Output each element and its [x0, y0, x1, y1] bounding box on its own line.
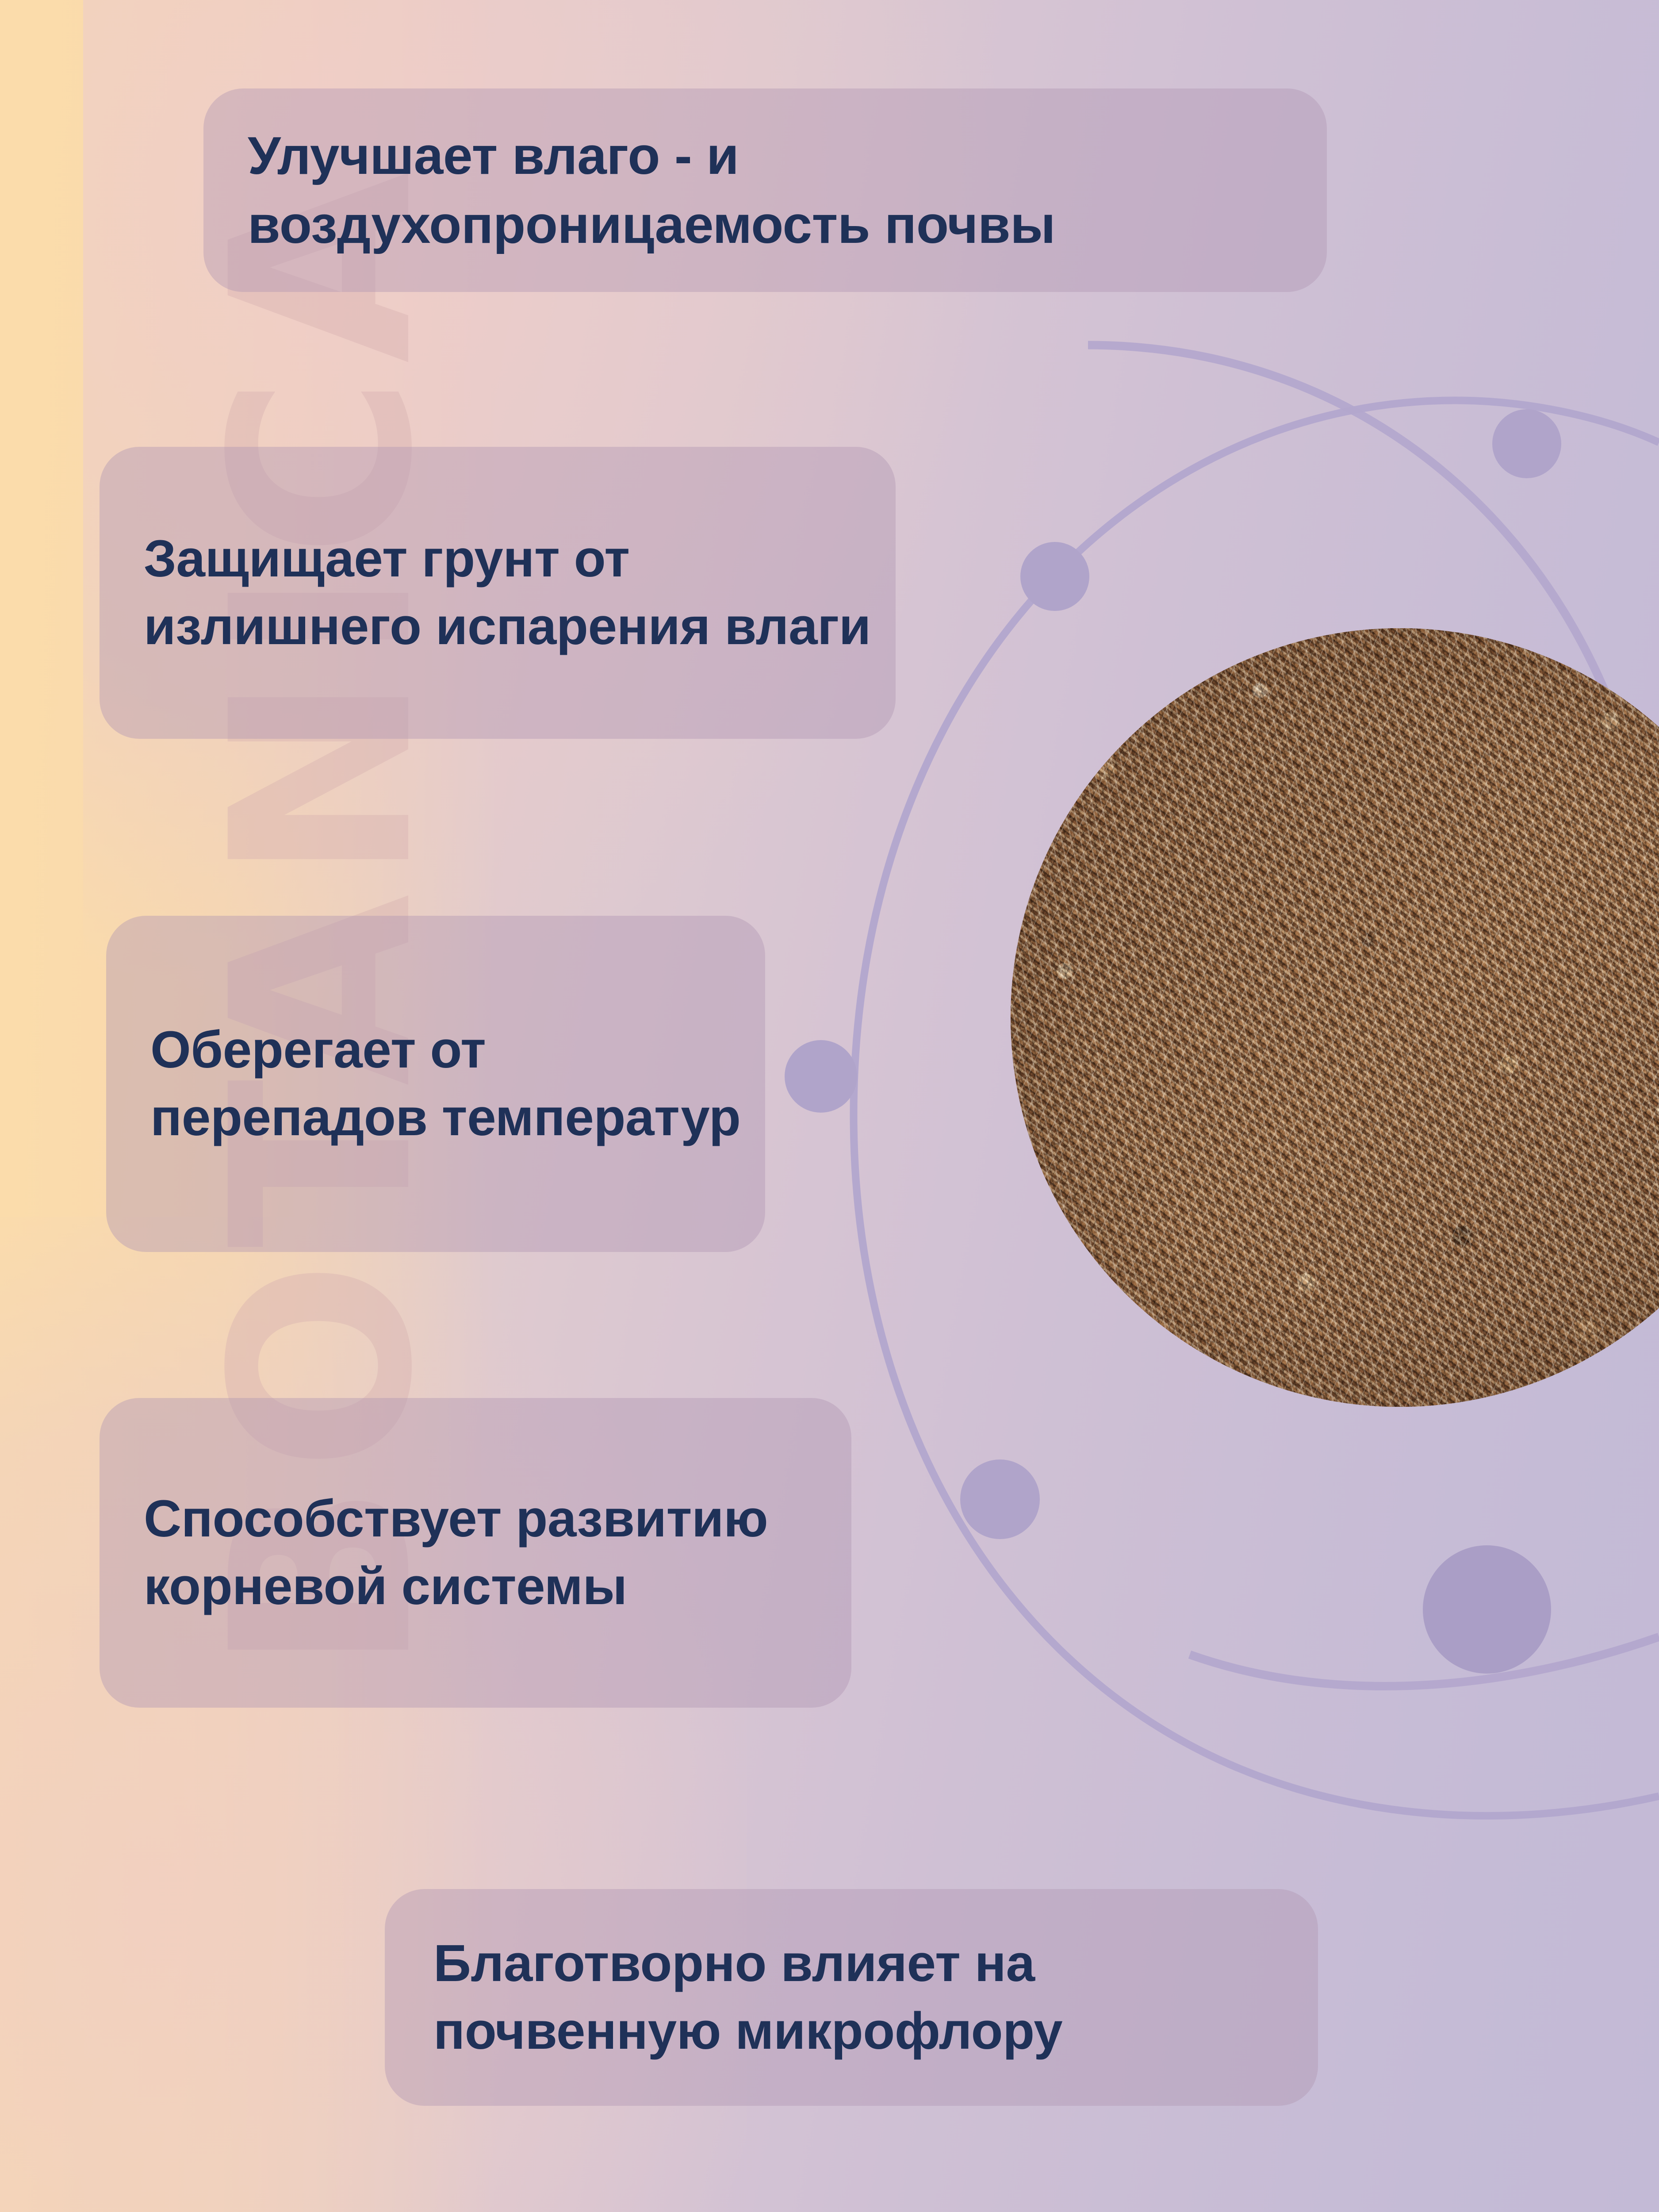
infographic-canvas: BOTANICA Улучшает влаго - и воздухопрони… — [0, 0, 1659, 2212]
photo-vignette — [1011, 628, 1659, 1407]
benefit-card-3: Оберегает от перепадов температур — [106, 916, 765, 1252]
benefit-card-1: Улучшает влаго - и воздухопроницаемость … — [203, 88, 1327, 292]
benefit-text-1: Улучшает влаго - и воздухопроницаемость … — [248, 121, 1327, 259]
benefit-card-4: Способствует развитию корневой системы — [100, 1398, 851, 1708]
benefit-text-4: Способствует развитию корневой системы — [144, 1485, 851, 1621]
benefit-card-5: Благотворно влияет на почвенную микрофло… — [385, 1889, 1318, 2106]
benefit-card-2: Защищает грунт от излишнего испарения вл… — [100, 447, 896, 739]
benefit-text-2: Защищает грунт от излишнего испарения вл… — [144, 525, 896, 661]
benefit-text-5: Благотворно влияет на почвенную микрофло… — [433, 1930, 1318, 2066]
bark-mulch-photo — [1011, 628, 1659, 1407]
benefit-text-3: Оберегает от перепадов температур — [150, 1016, 765, 1152]
